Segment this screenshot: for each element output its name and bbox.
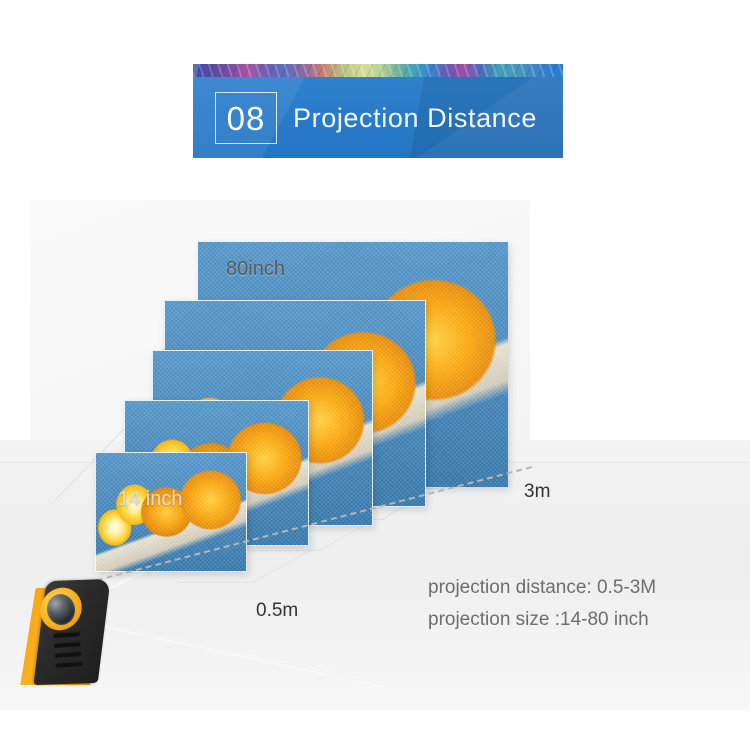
floor-guide-line bbox=[250, 550, 322, 551]
projector-vent bbox=[54, 651, 82, 658]
section-header-banner: 08 Projection Distance bbox=[193, 64, 563, 158]
mini-projector-device[interactable] bbox=[28, 580, 134, 685]
projection-screen-14inch[interactable] bbox=[95, 452, 247, 572]
far-distance-label: 3m bbox=[524, 481, 550, 503]
page-title: Projection Distance bbox=[293, 95, 537, 141]
spec-projection-distance: projection distance: 0.5-3M bbox=[428, 572, 656, 604]
header-decorative-pattern-strip bbox=[193, 64, 563, 77]
header-blue-body: 08 Projection Distance bbox=[193, 77, 563, 158]
floor-guide-line bbox=[178, 582, 254, 583]
header-section-number: 08 bbox=[227, 102, 266, 135]
spec-projection-size: projection size :14-80 inch bbox=[428, 604, 656, 636]
header-number-box: 08 bbox=[215, 92, 277, 144]
projector-vent bbox=[55, 661, 83, 668]
projection-specs: projection distance: 0.5-3M projection s… bbox=[428, 572, 656, 636]
projected-image bbox=[95, 452, 247, 572]
projector-vent bbox=[54, 641, 82, 648]
screen-size-label-14inch: 14 inch bbox=[118, 488, 183, 511]
projector-vent bbox=[53, 631, 81, 638]
screen-size-label-80inch: 80inch bbox=[226, 258, 285, 281]
near-distance-label: 0.5m bbox=[256, 600, 298, 622]
